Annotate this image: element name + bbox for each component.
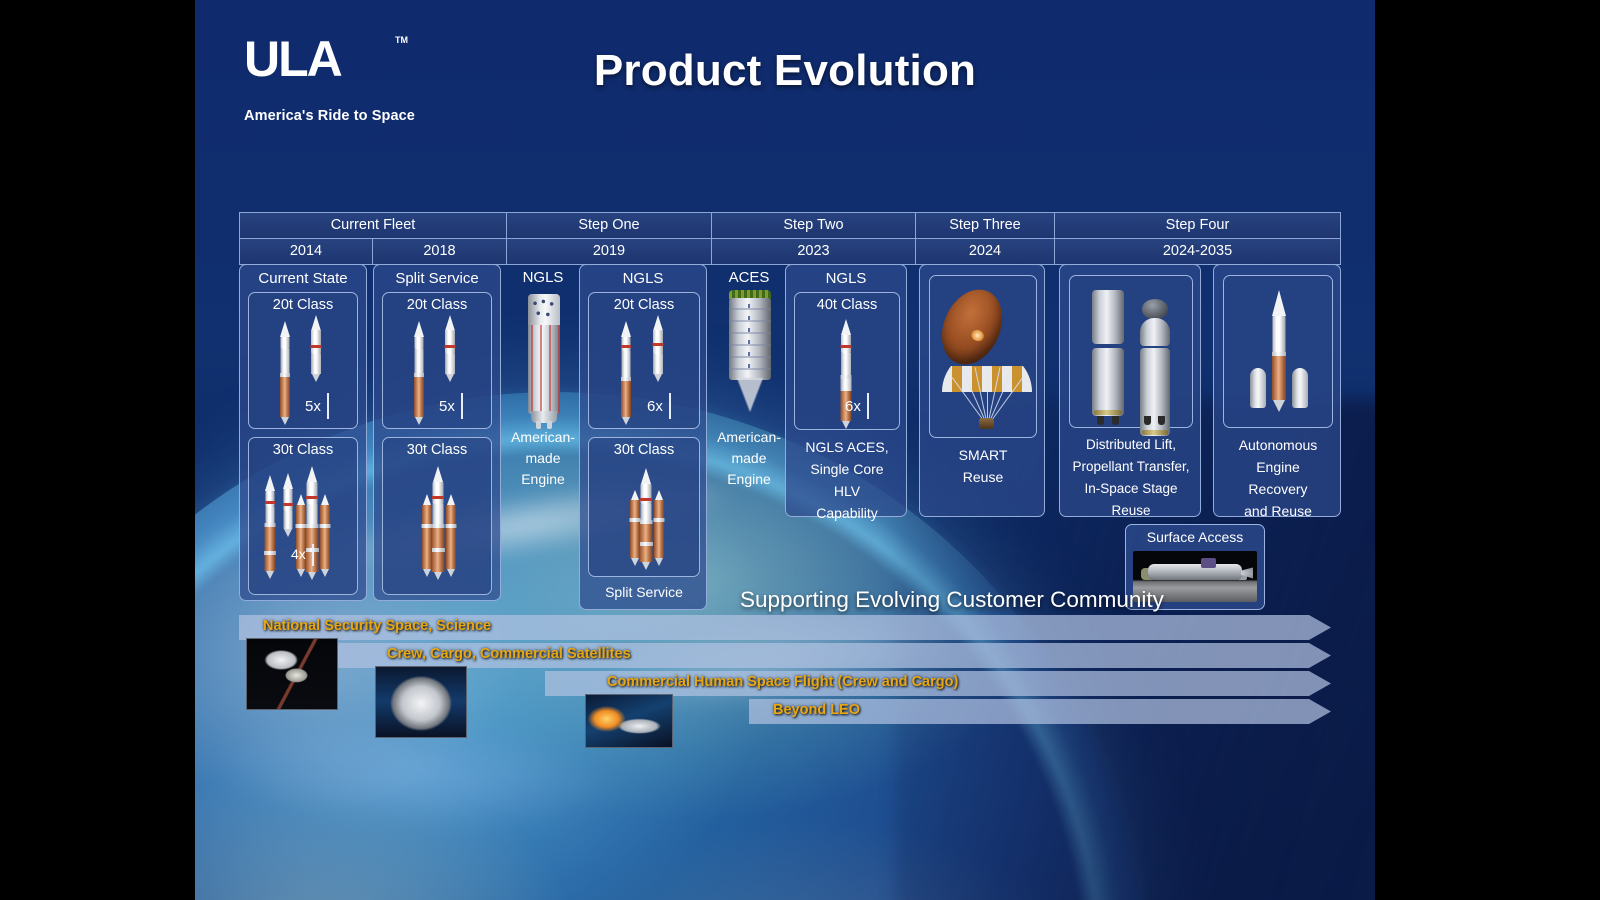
engine-bell-icon — [1241, 567, 1253, 578]
multiplier-label-30t-current: 4x — [291, 544, 314, 566]
caption-line: made — [507, 448, 579, 469]
rocket-delta-iv-heavy-right-booster — [319, 494, 330, 578]
in-space-stage — [1140, 312, 1170, 418]
caption-line: and Reuse — [1214, 500, 1342, 522]
arrow-label-commercial-human: Commercial Human Space Flight (Crew and … — [607, 674, 958, 690]
engine-pod-icon — [979, 418, 994, 429]
rocket-vulcan — [619, 321, 632, 421]
card-current-state-20t[interactable]: 20t Class — [248, 292, 358, 429]
trademark-icon: TM — [395, 35, 408, 45]
column-ngls-engine[interactable]: NGLS American- made Engine — [507, 264, 579, 601]
timeline-year-2024: 2024 — [916, 238, 1055, 265]
caption-line: Reuse — [920, 466, 1046, 488]
rocket-vulcan-alt — [651, 315, 665, 377]
card-title: 40t Class — [795, 293, 899, 314]
ngls-engine-caption: American- made Engine — [507, 424, 579, 490]
card-title: 20t Class — [249, 293, 357, 314]
caption-line: Single Core — [786, 458, 908, 480]
caption-line: NGLS ACES, — [786, 436, 908, 458]
column-distributed-lift[interactable]: Distributed Lift, Propellant Transfer, I… — [1059, 264, 1201, 517]
thumbnail-spaceplane[interactable] — [585, 694, 673, 748]
column-aces[interactable]: ACES American- made Engine — [713, 264, 785, 514]
card-title: 30t Class — [589, 438, 699, 459]
card-ngls-40t[interactable]: 40t Class 6x — [794, 292, 900, 430]
caption-line: Engine — [713, 469, 785, 490]
caption-line: American- — [507, 427, 579, 448]
screenshot-stage: ULA TM America's Ride to Space Product E… — [0, 0, 1600, 900]
distributed-lift-caption: Distributed Lift, Propellant Transfer, I… — [1060, 431, 1202, 522]
caption-line: Distributed Lift, — [1060, 434, 1202, 456]
rocket-autonomous-recovery — [1270, 290, 1288, 418]
rocket-delta-iv-heavy-center — [431, 466, 445, 578]
lander-icon — [1148, 564, 1242, 579]
card-distributed-lift[interactable] — [1069, 275, 1193, 428]
rocket-delta-iv-heavy-left-booster — [421, 494, 432, 578]
caption-line: In-Space Stage — [1060, 478, 1202, 500]
ula-tagline: America's Ride to Space — [244, 108, 469, 124]
customer-community-arrows: National Security Space, Science Crew, C… — [195, 610, 1375, 728]
parachute-lines — [942, 364, 1032, 426]
column-ngls-vehicles[interactable]: NGLS 20t Class — [579, 264, 707, 610]
caption-line: Engine — [507, 469, 579, 490]
aces-stage-illustration — [729, 290, 771, 400]
column-ngls-40t-head: NGLS — [786, 265, 906, 288]
column-current-state[interactable]: Current State 20t Class — [239, 264, 367, 601]
caption-line: HLV — [786, 480, 908, 502]
multiplier-label-20t-split: 5x — [439, 393, 463, 419]
column-smart-reuse[interactable]: SMART Reuse — [919, 264, 1045, 517]
card-autonomous-recovery[interactable] — [1223, 275, 1333, 428]
column-autonomous-recovery[interactable]: Autonomous Engine Recovery and Reuse — [1213, 264, 1341, 517]
multiplier-label-20t-current: 5x — [305, 393, 329, 419]
column-split-service[interactable]: Split Service 20t Class — [373, 264, 501, 601]
timeline-step-four: Step Four — [1055, 212, 1341, 238]
rocket-delta-iv — [309, 315, 323, 377]
heat-shield-icon — [931, 280, 1014, 374]
timeline-step-three: Step Three — [916, 212, 1055, 238]
card-ngls-20t[interactable]: 20t Class — [588, 292, 700, 429]
column-ngls-40t[interactable]: NGLS 40t Class 6x — [785, 264, 907, 517]
caption-line: made — [713, 448, 785, 469]
rocket-atlas-v — [279, 321, 291, 421]
rocket-delta-iv — [443, 315, 457, 377]
caption-line: Propellant Transfer, — [1060, 456, 1202, 478]
column-current-state-head: Current State — [240, 265, 366, 288]
caption-line: Reuse — [1060, 500, 1202, 522]
recovery-booster-right — [1292, 368, 1308, 408]
caption-line: SMART — [920, 444, 1046, 466]
surface-access-title: Surface Access — [1126, 525, 1264, 546]
page-title: Product Evolution — [195, 46, 1375, 96]
column-ngls-vehicles-head: NGLS — [580, 265, 706, 288]
ngls-40t-caption: NGLS ACES, Single Core HLV Capability — [786, 433, 908, 524]
timeline-year-2018: 2018 — [373, 238, 507, 265]
card-title: 20t Class — [383, 293, 491, 314]
timeline-year-2014: 2014 — [239, 238, 373, 265]
rocket-delta-iv-single — [282, 473, 294, 538]
card-ngls-30t[interactable]: 30t Class — [588, 437, 700, 577]
arrow-label-beyond-leo: Beyond LEO — [773, 702, 860, 718]
card-title: 20t Class — [589, 293, 699, 314]
card-smart-reuse[interactable] — [929, 275, 1037, 438]
timeline-header: Current Fleet Step One Step Two Step Thr… — [239, 212, 1341, 265]
caption-line: Recovery — [1214, 478, 1342, 500]
smart-reuse-caption: SMART Reuse — [920, 441, 1046, 488]
card-current-state-30t[interactable]: 30t Class — [248, 437, 358, 595]
timeline-year-2019: 2019 — [507, 238, 712, 265]
card-split-service-30t[interactable]: 30t Class — [382, 437, 492, 595]
column-aces-head: ACES — [713, 264, 785, 287]
ngls-engine-illustration — [528, 294, 560, 414]
card-title: 30t Class — [383, 438, 491, 459]
multiplier-label-20t-ngls: 6x — [647, 393, 671, 419]
presentation-slide: ULA TM America's Ride to Space Product E… — [195, 0, 1375, 900]
timeline-step-one: Step One — [507, 212, 712, 238]
multiplier-label-40t: 6x — [845, 393, 869, 419]
card-title: 30t Class — [249, 438, 357, 459]
column-ngls-engine-head: NGLS — [507, 264, 579, 287]
timeline-year-2024-2035: 2024-2035 — [1055, 238, 1341, 265]
caption-line: American- — [713, 427, 785, 448]
timeline-steps-row: Current Fleet Step One Step Two Step Thr… — [239, 212, 1341, 238]
caption-line: Autonomous — [1214, 434, 1342, 456]
rocket-vulcan-heavy-center — [639, 468, 653, 568]
thumbnail-crew-capsule[interactable] — [375, 666, 467, 738]
arrow-label-national-security: National Security Space, Science — [263, 618, 491, 634]
autonomous-recovery-caption: Autonomous Engine Recovery and Reuse — [1214, 431, 1342, 522]
timeline-years-row: 2014 2018 2019 2023 2024 2024-2035 — [239, 238, 1341, 265]
timeline-step-current-fleet: Current Fleet — [239, 212, 507, 238]
recovery-booster-left — [1250, 368, 1266, 408]
rocket-delta-iv-heavy-right-booster — [445, 494, 456, 578]
propellant-depot-stage — [1092, 290, 1124, 418]
caption-line: Capability — [786, 502, 908, 524]
rocket-vulcan-heavy-left-booster — [629, 490, 640, 568]
caption-line: Engine — [1214, 456, 1342, 478]
arrow-label-crew-cargo: Crew, Cargo, Commercial Satellites — [387, 646, 631, 662]
thumbnail-satellite[interactable] — [246, 638, 338, 710]
card-split-service-20t[interactable]: 20t Class — [382, 292, 492, 429]
timeline-step-two: Step Two — [712, 212, 916, 238]
rocket-atlas-v-single — [263, 475, 276, 580]
timeline-year-2023: 2023 — [712, 238, 916, 265]
aces-caption: American- made Engine — [713, 424, 785, 490]
rocket-atlas-v — [413, 321, 425, 421]
column-split-service-head: Split Service — [374, 265, 500, 288]
rocket-vulcan-heavy-right-booster — [653, 490, 664, 568]
ngls-30t-footer: Split Service — [580, 579, 708, 603]
